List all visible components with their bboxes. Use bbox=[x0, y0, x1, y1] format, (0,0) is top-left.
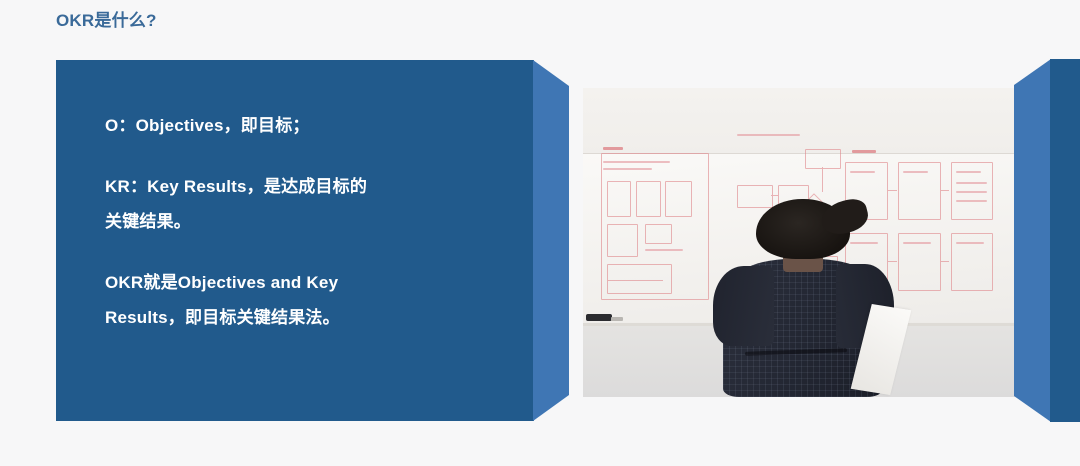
right-accent-chevron bbox=[1014, 59, 1080, 422]
whiteboard-marker-cap bbox=[611, 317, 623, 321]
right-chevron-bevel bbox=[1014, 59, 1051, 422]
okr-summary-paragraph: OKR就是Objectives and Key Results，即目标关键结果法… bbox=[105, 265, 485, 335]
okr-definition-callout: O：Objectives，即目标； KR：Key Results，是达成目标的 … bbox=[56, 60, 534, 421]
callout-right-bevel bbox=[533, 60, 569, 421]
objectives-paragraph: O：Objectives，即目标； bbox=[105, 108, 485, 143]
whiteboard-photo bbox=[583, 88, 1015, 397]
slide-canvas: OKR是什么? O：Objectives，即目标； KR：Key Results… bbox=[0, 0, 1080, 466]
whiteboard-marker bbox=[586, 314, 612, 321]
callout-text-group: O：Objectives，即目标； KR：Key Results，是达成目标的 … bbox=[105, 108, 485, 335]
key-results-paragraph: KR：Key Results，是达成目标的 关键结果。 bbox=[105, 169, 485, 239]
objectives-line-1: O：Objectives，即目标； bbox=[105, 108, 485, 143]
whiteboard-wireframe-sketch bbox=[600, 147, 712, 302]
person-left-shoulder bbox=[713, 266, 775, 345]
page-title: OKR是什么? bbox=[56, 6, 157, 31]
okr-summary-line-2: Results，即目标关键结果法。 bbox=[105, 300, 485, 335]
key-results-line-1: KR：Key Results，是达成目标的 bbox=[105, 169, 485, 204]
okr-summary-line-1: OKR就是Objectives and Key bbox=[105, 265, 485, 300]
key-results-line-2: 关键结果。 bbox=[105, 204, 485, 239]
right-chevron-face bbox=[1050, 59, 1080, 422]
person-figure bbox=[713, 199, 894, 397]
